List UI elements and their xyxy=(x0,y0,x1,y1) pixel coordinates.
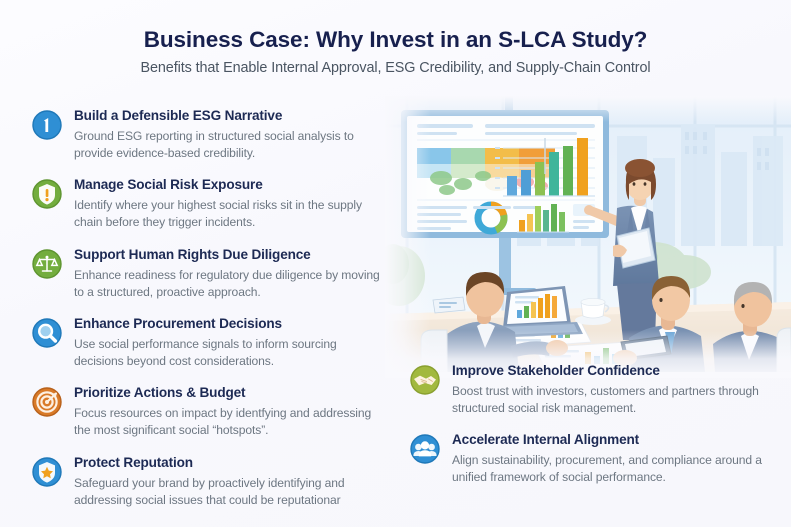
benefit-title: Prioritize Actions & Budget xyxy=(74,385,383,402)
people-group-icon xyxy=(409,433,441,465)
poster-header: Business Case: Why Invest in an S-LCA St… xyxy=(0,26,791,76)
benefit-title: Manage Social Risk Exposure xyxy=(74,177,383,194)
benefit-title: Enhance Procurement Decisions xyxy=(74,316,383,333)
benefit-item-build-defensible-esg-narrative: Build a Defensible ESG Narrative Ground … xyxy=(31,108,383,162)
benefit-title: Improve Stakeholder Confidence xyxy=(452,363,769,380)
page-subtitle: Benefits that Enable Internal Approval, … xyxy=(0,60,791,76)
handshake-icon xyxy=(409,364,441,396)
benefit-title: Support Human Rights Due Diligence xyxy=(74,247,383,264)
shield-warning-icon xyxy=(31,178,63,210)
number-one-badge-icon xyxy=(31,109,63,141)
benefit-item-protect-reputation: Protect Reputation Safeguard your brand … xyxy=(31,455,383,509)
benefits-left-column: Build a Defensible ESG Narrative Ground … xyxy=(31,108,383,509)
magnifying-glass-icon xyxy=(31,317,63,349)
benefit-title: Protect Reputation xyxy=(74,455,383,472)
benefit-item-accelerate-internal-alignment: Accelerate Internal Alignment Align sust… xyxy=(409,432,769,486)
benefit-item-manage-social-risk-exposure: Manage Social Risk Exposure Identify whe… xyxy=(31,177,383,231)
benefit-title: Accelerate Internal Alignment xyxy=(452,432,769,449)
benefit-description: Boost trust with investors, customers an… xyxy=(452,383,769,417)
benefit-description: Safeguard your brand by proactively iden… xyxy=(74,475,383,509)
infographic-poster: Business Case: Why Invest in an S-LCA St… xyxy=(0,0,791,527)
benefit-description: Enhance readiness for regulatory due dil… xyxy=(74,267,383,301)
benefit-description: Use social performance signals to inform… xyxy=(74,336,383,370)
benefit-item-prioritize-actions-and-budget: Prioritize Actions & Budget Focus resour… xyxy=(31,385,383,439)
benefit-description: Ground ESG reporting in structured socia… xyxy=(74,128,383,162)
business-meeting-presentation-illustration xyxy=(385,96,791,372)
target-bullseye-icon xyxy=(31,386,63,418)
benefit-item-support-human-rights-due-diligence: Support Human Rights Due Diligence Enhan… xyxy=(31,247,383,301)
scales-of-justice-icon xyxy=(31,248,63,280)
benefit-title: Build a Defensible ESG Narrative xyxy=(74,108,383,125)
page-title: Business Case: Why Invest in an S-LCA St… xyxy=(0,26,791,53)
benefit-description: Align sustainability, procurement, and c… xyxy=(452,452,769,486)
benefit-description: Identify where your highest social risks… xyxy=(74,197,383,231)
benefit-item-enhance-procurement-decisions: Enhance Procurement Decisions Use social… xyxy=(31,316,383,370)
benefits-right-column: Improve Stakeholder Confidence Boost tru… xyxy=(409,363,769,487)
benefit-description: Focus resources on impact by identfying … xyxy=(74,405,383,439)
shield-star-icon xyxy=(31,456,63,488)
benefit-item-improve-stakeholder-confidence: Improve Stakeholder Confidence Boost tru… xyxy=(409,363,769,417)
